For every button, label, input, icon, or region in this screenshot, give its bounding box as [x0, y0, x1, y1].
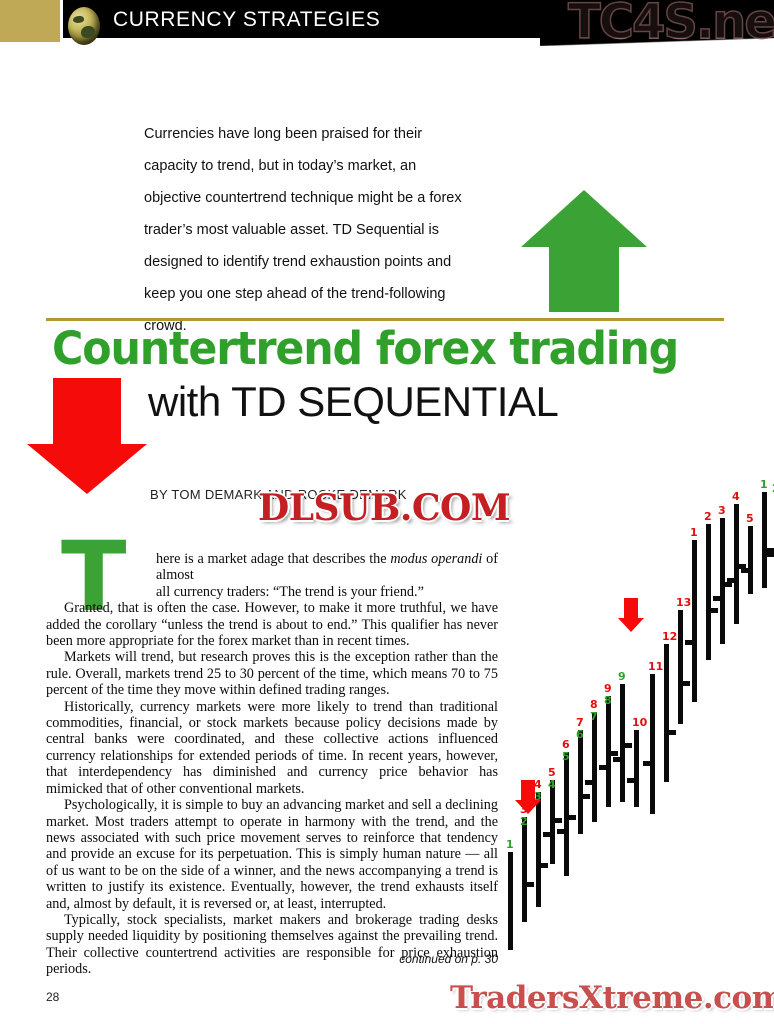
body-paragraph-5: Psychologically, it is simple to buy an … — [46, 797, 498, 912]
countdown-label: 10 — [632, 717, 647, 728]
p1-line2: all currency traders: “The trend is your… — [156, 584, 498, 600]
close-tick — [555, 818, 562, 823]
price-bar — [664, 644, 669, 782]
red-arrow-shaft — [53, 378, 121, 444]
close-tick — [669, 730, 676, 735]
countdown-label: 4 — [732, 491, 740, 502]
setup-label: 4 — [548, 779, 556, 790]
body-paragraph-6: Typically, stock specialists, market mak… — [46, 912, 498, 978]
open-tick — [643, 761, 650, 766]
header-gold-block — [0, 0, 60, 42]
red-arrow-head — [27, 444, 147, 494]
article-body: here is a market adage that describes th… — [46, 551, 498, 978]
countdown-label: 9 — [604, 683, 612, 694]
open-tick — [767, 548, 774, 553]
arrow-shaft — [624, 598, 638, 618]
page-number: 28 — [46, 990, 59, 1004]
setup-label: 2 — [520, 816, 528, 827]
p1-italic: modus operandi — [390, 551, 482, 567]
td-sequential-chart: 1324354657687989101112131234512 — [500, 462, 774, 962]
body-paragraph-1: here is a market adage that describes th… — [46, 551, 498, 600]
countdown-label: 1 — [690, 527, 698, 538]
countdown-label: 3 — [718, 505, 726, 516]
close-tick — [711, 608, 718, 613]
setup-label: 7 — [590, 711, 598, 722]
price-bar — [522, 817, 527, 922]
price-bar — [650, 674, 655, 814]
countdown-label: 6 — [562, 739, 570, 750]
price-bar — [720, 518, 725, 644]
section-title: CURRENCY STRATEGIES — [113, 8, 380, 32]
exhaustion-arrow-upper — [618, 598, 644, 632]
close-tick — [611, 751, 618, 756]
close-tick — [583, 794, 590, 799]
open-tick — [727, 578, 734, 583]
arrow-head — [618, 618, 644, 632]
countdown-label: 5 — [548, 767, 556, 778]
open-tick — [613, 757, 620, 762]
continued-note: continued on p. 30 — [330, 952, 498, 966]
price-bar — [634, 730, 639, 807]
open-tick — [741, 568, 748, 573]
open-tick — [685, 640, 692, 645]
countdown-label: 11 — [648, 661, 663, 672]
close-tick — [541, 863, 548, 868]
tradersxtreme-watermark: TradersXtreme.com — [450, 980, 774, 1016]
title-rule — [46, 318, 724, 321]
body-paragraph-3: Markets will trend, but research proves … — [46, 649, 498, 698]
setup-label: 1 — [760, 479, 768, 490]
price-bar — [692, 540, 697, 702]
countdown-label: 13 — [676, 597, 691, 608]
open-tick — [627, 778, 634, 783]
price-bar — [678, 610, 683, 724]
page-title: Countertrend forex trading — [52, 322, 717, 375]
price-bar — [706, 524, 711, 660]
green-up-arrow-icon — [521, 190, 657, 312]
countdown-label: 2 — [704, 511, 712, 522]
exhaustion-arrow-lower — [515, 780, 541, 814]
close-tick — [625, 743, 632, 748]
price-bar — [578, 730, 583, 834]
body-paragraph-4: Historically, currency markets were more… — [46, 699, 498, 797]
globe-icon — [68, 7, 100, 45]
setup-label: 9 — [618, 671, 626, 682]
countdown-label: 12 — [662, 631, 677, 642]
dlsub-watermark: DLSUB.COM — [258, 487, 510, 529]
green-arrow-shaft — [549, 236, 619, 312]
page-subtitle: with TD SEQUENTIAL — [148, 378, 558, 426]
close-tick — [527, 882, 534, 887]
setup-label: 8 — [604, 695, 612, 706]
arrow-shaft — [521, 780, 535, 800]
price-bar — [508, 852, 513, 950]
arrow-head — [515, 800, 541, 814]
close-tick — [683, 681, 690, 686]
countdown-label: 5 — [746, 513, 754, 524]
open-tick — [557, 829, 564, 834]
open-tick — [599, 765, 606, 770]
setup-label: 5 — [562, 751, 570, 762]
p1-lead: here is a market adage that describes th… — [156, 551, 390, 567]
countdown-label: 7 — [576, 717, 584, 728]
article-deck: Currencies have long been praised for th… — [144, 118, 474, 342]
price-bar — [748, 526, 753, 594]
setup-label: 1 — [506, 839, 514, 850]
body-paragraph-2: Granted, that is often the case. However… — [46, 600, 498, 649]
countdown-label: 8 — [590, 699, 598, 710]
open-tick — [713, 596, 720, 601]
red-down-arrow-icon — [27, 378, 153, 491]
close-tick — [569, 815, 576, 820]
price-bar — [592, 712, 597, 822]
setup-label: 6 — [576, 729, 584, 740]
open-tick — [543, 832, 550, 837]
price-bar — [762, 492, 767, 588]
open-tick — [585, 780, 592, 785]
